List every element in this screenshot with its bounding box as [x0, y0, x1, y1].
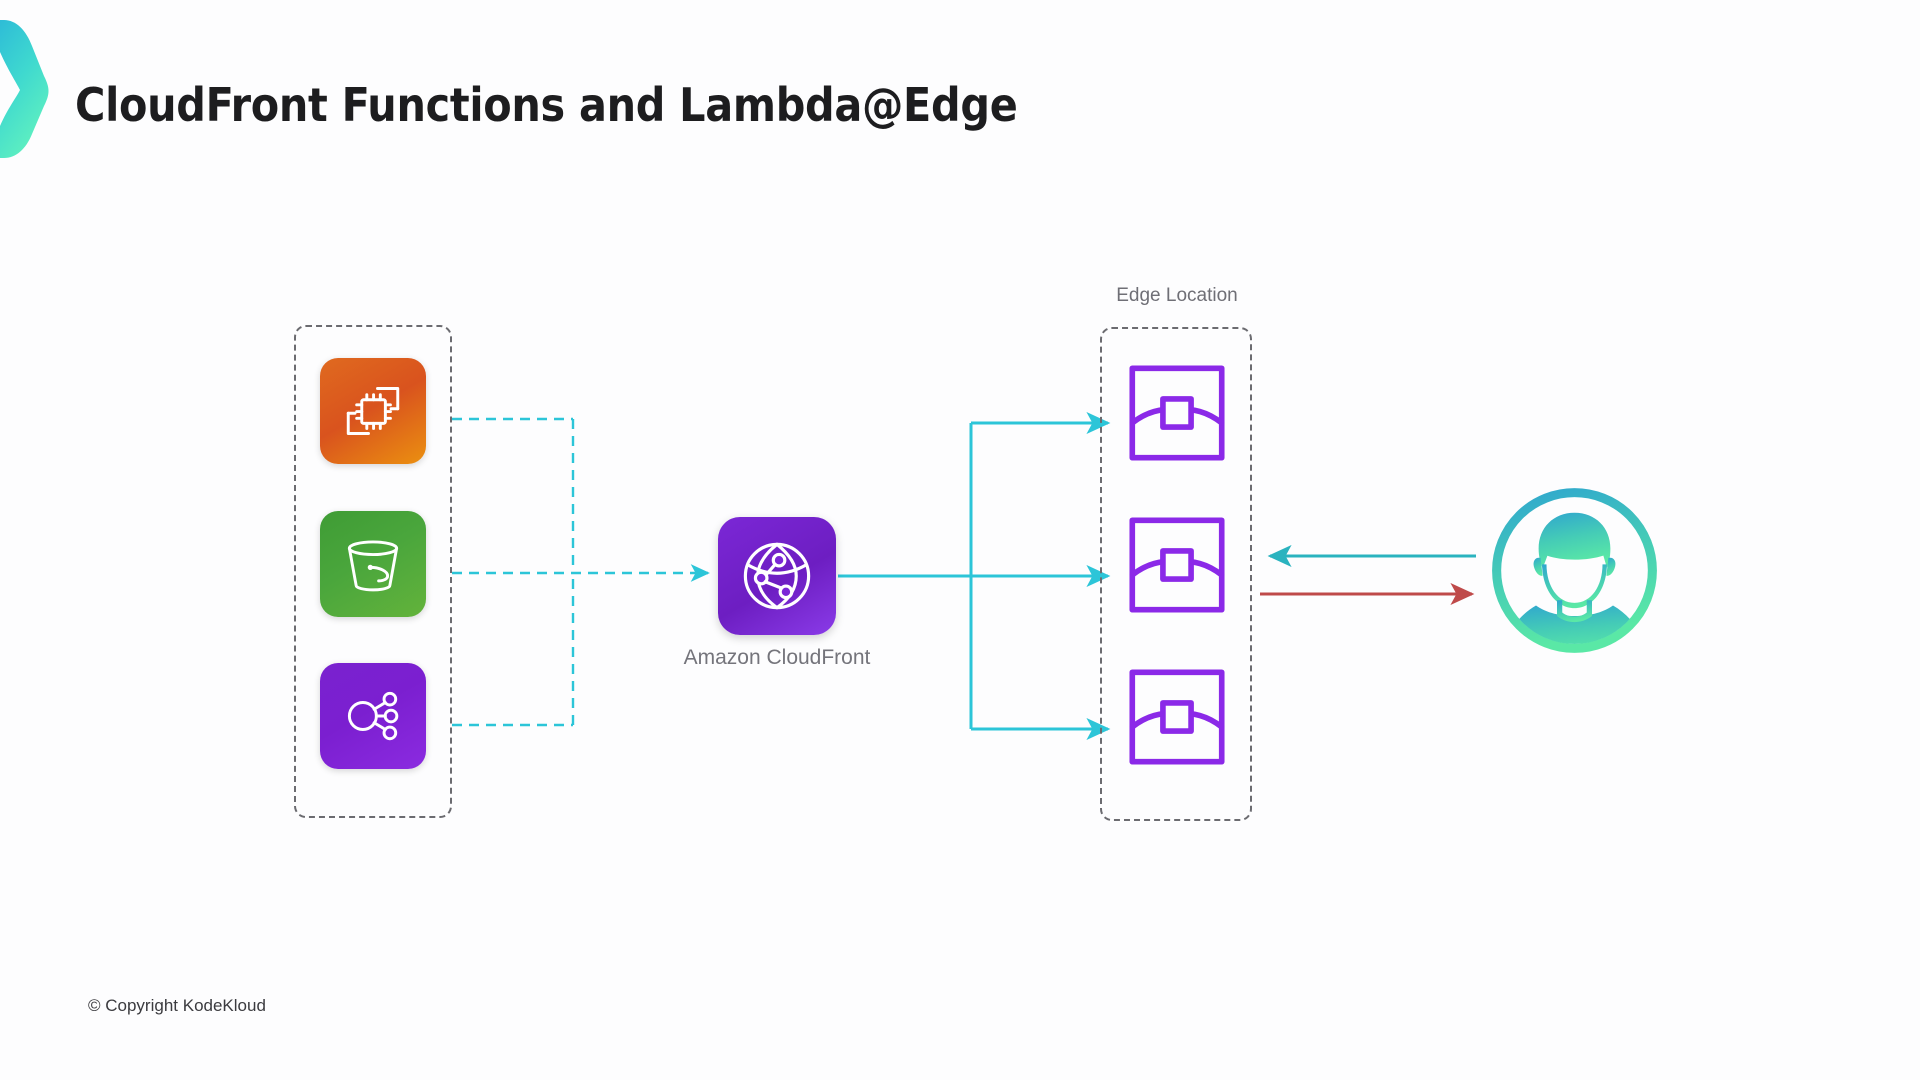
page-title: CloudFront Functions and Lambda@Edge [75, 78, 1017, 132]
edge-location-icon [1124, 664, 1230, 770]
service-tile-load-balancer[interactable] [320, 663, 426, 769]
service-tile-s3[interactable] [320, 511, 426, 617]
end-user-avatar[interactable] [1487, 483, 1662, 658]
edge-location-icon [1124, 360, 1230, 466]
kodekloud-chevron-icon [0, 18, 60, 160]
user-avatar-icon [1487, 483, 1662, 658]
cloudfront-globe-icon [733, 532, 821, 620]
copyright-text: © Copyright KodeKloud [88, 996, 266, 1016]
connector-origin-to-cloudfront [452, 419, 708, 725]
service-tile-cloudfront[interactable] [718, 517, 836, 635]
edge-location-node-3[interactable] [1124, 664, 1230, 770]
service-tile-ec2[interactable] [320, 358, 426, 464]
edge-location-node-2[interactable] [1124, 512, 1230, 618]
cloudfront-label: Amazon CloudFront [663, 646, 891, 670]
edge-location-caption: Edge Location [1101, 285, 1253, 307]
s3-bucket-icon [337, 528, 409, 600]
edge-location-node-1[interactable] [1124, 360, 1230, 466]
ec2-chip-icon [337, 375, 409, 447]
edge-location-icon [1124, 512, 1230, 618]
connector-cloudfront-to-edge [838, 423, 1108, 729]
load-balancer-node-icon [337, 680, 409, 752]
slide-canvas: CloudFront Functions and Lambda@Edge [0, 0, 1920, 1080]
